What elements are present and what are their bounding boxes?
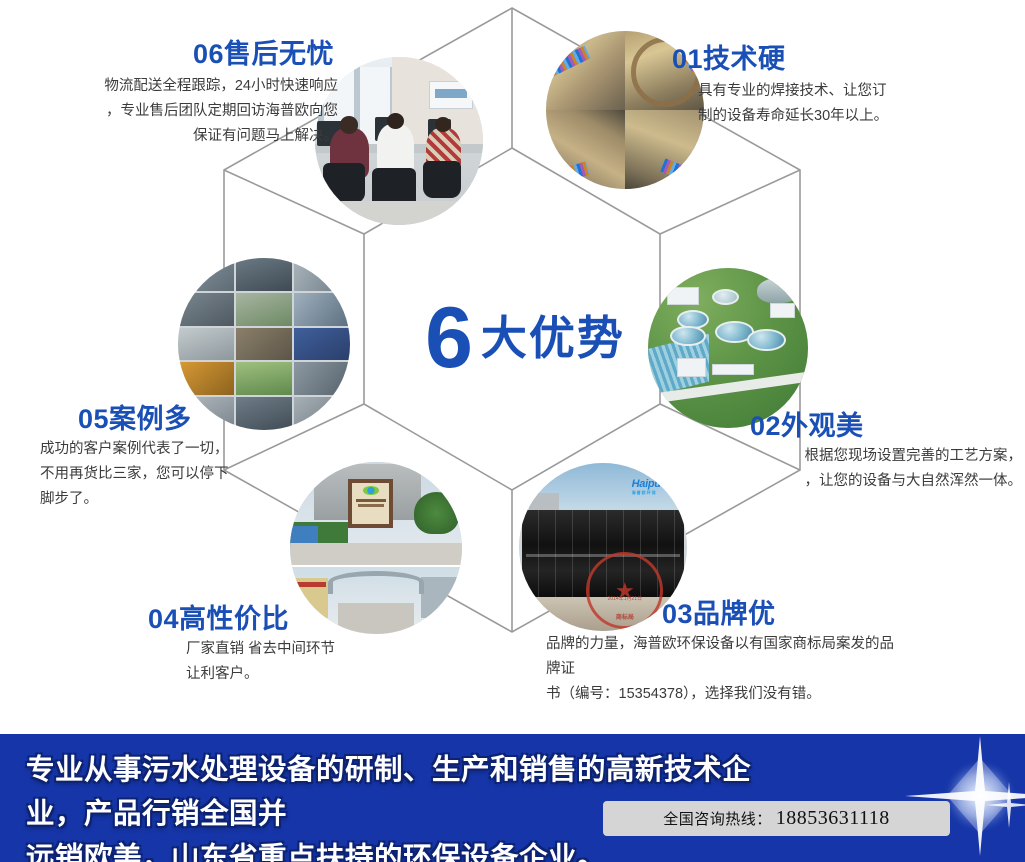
advantage-heading-02: 02外观美 [712,412,1022,442]
advantage-description-03: 品牌的力量，海普欧环保设备以有国家商标局案发的品牌证 书（编号：15354378… [546,632,896,708]
advantage-heading-05: 05案例多 [40,405,350,435]
advantage-block-04: 04高性价比 厂家直销 省去中间环节 让利客户。 [148,605,478,687]
hotline-number[interactable]: 18853631118 [776,807,890,830]
bottom-banner: 专业从事污水处理设备的研制、生产和销售的高新技术企业，产品行销全国并 远销欧美，… [0,734,1025,862]
office-staff-photo [315,57,483,225]
hotline-badge: 全国咨询热线： 18853631118 [603,801,950,836]
advantage-heading-06: 06售后无忧 [18,40,338,70]
haipuou-brand-logo: Haipuou 海普欧环保 [632,478,674,496]
advantage-block-05: 05案例多 成功的客户案例代表了一切， 不用再货比三家，您可以停下 脚步了。 [40,405,350,513]
center-title: 6 大优势 [405,288,645,388]
advantage-block-01: 01技术硬 具有专业的焊接技术、让您订 制的设备寿命延长30年以上。 [672,45,1002,129]
hotline-label: 全国咨询热线： [663,808,772,829]
center-label: 大优势 [481,315,625,361]
advantage-heading-01: 01技术硬 [672,45,1002,75]
advantage-description-06: 物流配送全程跟踪，24小时快速响应 ，专业售后团队定期回访海普欧向您 保证有问题… [18,74,338,150]
advantage-description-04: 厂家直销 省去中间环节 让利客户。 [148,637,478,688]
advantage-heading-04: 04高性价比 [148,605,478,635]
center-number: 6 [425,295,473,381]
advantage-description-05: 成功的客户案例代表了一切， 不用再货比三家，您可以停下 脚步了。 [40,437,350,513]
wastewater-plant-aerial-photo [648,268,808,428]
advantages-infographic: Haipuou 海普欧环保 ★ 2014年1月21日 商标局 [0,0,1025,722]
advantage-description-01: 具有专业的焊接技术、让您订 制的设备寿命延长30年以上。 [672,79,1002,130]
advantage-block-06: 06售后无忧 物流配送全程跟踪，24小时快速响应 ，专业售后团队定期回访海普欧向… [18,40,338,150]
sparkle-icon-large [905,736,1025,856]
sparkle-icon-small [986,782,1025,828]
advantage-heading-03: 03品牌优 [546,600,896,630]
advantage-description-02: 根据您现场设置完善的工艺方案， ，让您的设备与大自然浑然一体。 [712,444,1022,495]
advantage-block-02: 02外观美 根据您现场设置完善的工艺方案， ，让您的设备与大自然浑然一体。 [712,412,1022,494]
advantage-block-03: 03品牌优 品牌的力量，海普欧环保设备以有国家商标局案发的品牌证 书（编号：15… [546,600,896,708]
